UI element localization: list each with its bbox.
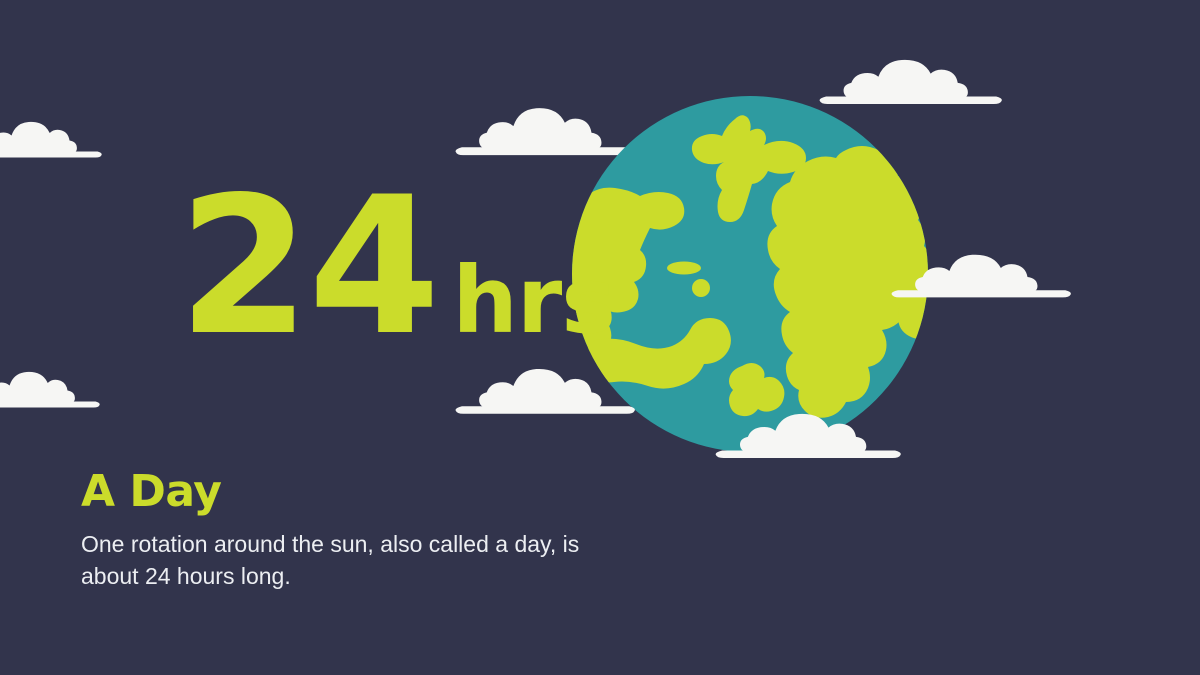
- cloud-icon-left-bottom-small: [0, 372, 100, 408]
- caption-body: One rotation around the sun, also called…: [81, 528, 581, 593]
- stat-unit: hrs: [452, 255, 615, 347]
- slide-root: 24 hrs A Day One rotation around the sun…: [0, 0, 1200, 675]
- cloud-icon-left-small: [0, 122, 102, 158]
- caption-block: A Day One rotation around the sun, also …: [81, 468, 621, 593]
- cloud-icon-top-right: [820, 60, 1002, 104]
- landmass-islet-round: [692, 279, 710, 297]
- cloud-icon-upper-left: [456, 108, 635, 155]
- landmass-islet-oval: [667, 262, 701, 275]
- stat-headline: 24 hrs: [178, 172, 615, 362]
- caption-title: A Day: [81, 468, 621, 516]
- landmass-east: [767, 146, 930, 418]
- stat-value: 24: [178, 172, 438, 362]
- landmass-east-edge: [898, 293, 944, 339]
